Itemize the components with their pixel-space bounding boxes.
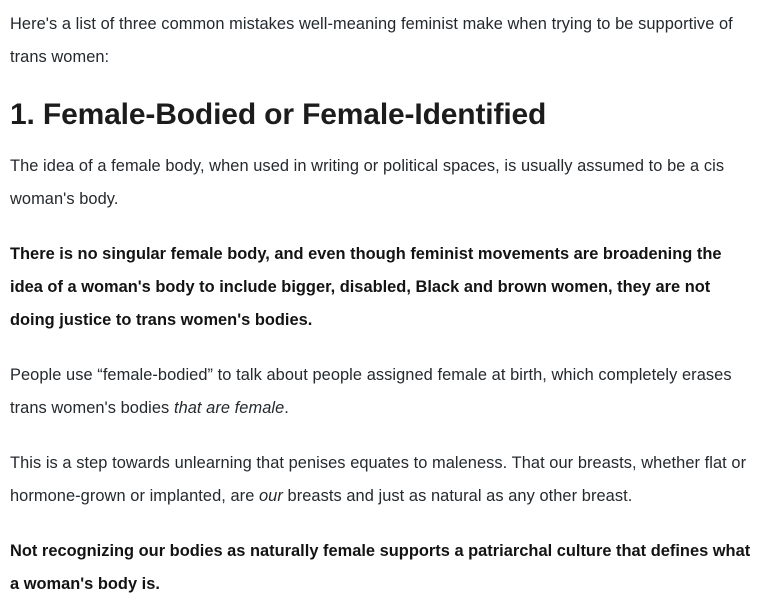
article-body: Here's a list of three common mistakes w… — [0, 0, 784, 601]
paragraph-patriarchal-culture: Not recognizing our bodies as naturally … — [10, 535, 758, 601]
intro-paragraph: Here's a list of three common mistakes w… — [10, 8, 758, 74]
paragraph-4-text-before: People use “female-bodied” to talk about… — [10, 366, 732, 417]
section-heading: 1. Female-Bodied or Female-Identified — [10, 96, 764, 134]
paragraph-5-emphasis: our — [259, 487, 283, 505]
paragraph-female-bodied-term: People use “female-bodied” to talk about… — [10, 359, 758, 425]
paragraph-4-emphasis: that are female — [174, 399, 284, 417]
paragraph-female-body-idea: The idea of a female body, when used in … — [10, 150, 758, 216]
paragraph-5-text-after: breasts and just as natural as any other… — [283, 487, 632, 505]
paragraph-4-text-after: . — [284, 399, 289, 417]
paragraph-unlearning-maleness: This is a step towards unlearning that p… — [10, 447, 758, 513]
paragraph-no-singular-female-body: There is no singular female body, and ev… — [10, 238, 758, 337]
